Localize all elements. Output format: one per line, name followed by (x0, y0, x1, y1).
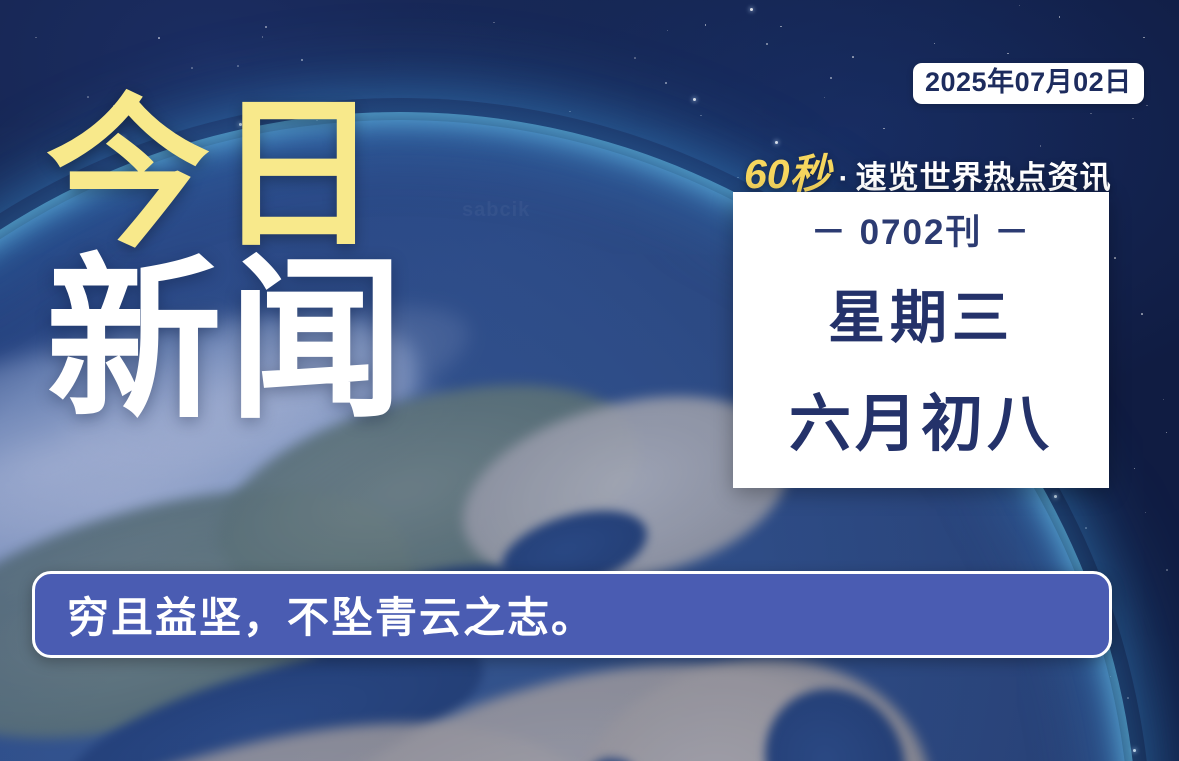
quote-bar: 穷且益坚，不坠青云之志。 (32, 571, 1112, 658)
tagline-highlight: 60秒 (744, 140, 831, 200)
lunar-date: 六月初八 (789, 373, 1053, 463)
date-badge: 2025年07月02日 (913, 63, 1144, 104)
date-info-card: － 0702刊 － 星期三 六月初八 (733, 192, 1109, 488)
tagline-separator: · (839, 162, 849, 196)
news-poster: sabcik 今日 新闻 2025年07月02日 60秒 · 速览世界热点资讯 … (0, 0, 1179, 761)
title-line-today: 今日 (46, 96, 466, 253)
issue-number: － 0702刊 － (811, 204, 1031, 255)
quote-text: 穷且益坚，不坠青云之志。 (67, 584, 595, 645)
tagline: 60秒 · 速览世界热点资讯 (744, 140, 1112, 200)
poster-title: 今日 新闻 (46, 96, 466, 426)
weekday-label: 星期三 (828, 272, 1014, 354)
title-line-news: 新闻 (46, 257, 466, 426)
background-watermark: sabcik (462, 199, 530, 222)
tagline-text: 速览世界热点资讯 (856, 152, 1112, 197)
